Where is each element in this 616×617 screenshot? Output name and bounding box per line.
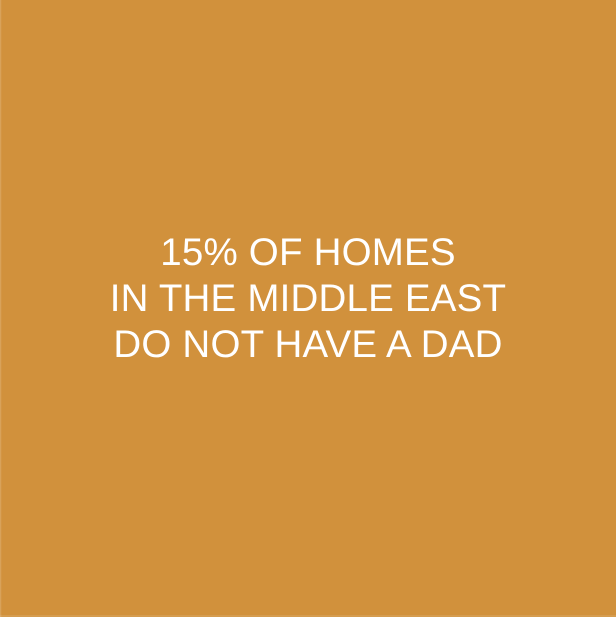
headline-text-block: 15% OF HOMES IN THE MIDDLE EAST DO NOT H… <box>0 230 616 368</box>
headline-line-3: DO NOT HAVE A DAD <box>0 322 616 368</box>
text-card: 15% OF HOMES IN THE MIDDLE EAST DO NOT H… <box>0 0 616 617</box>
headline-line-1: 15% OF HOMES <box>0 230 616 276</box>
headline-line-2: IN THE MIDDLE EAST <box>0 276 616 322</box>
